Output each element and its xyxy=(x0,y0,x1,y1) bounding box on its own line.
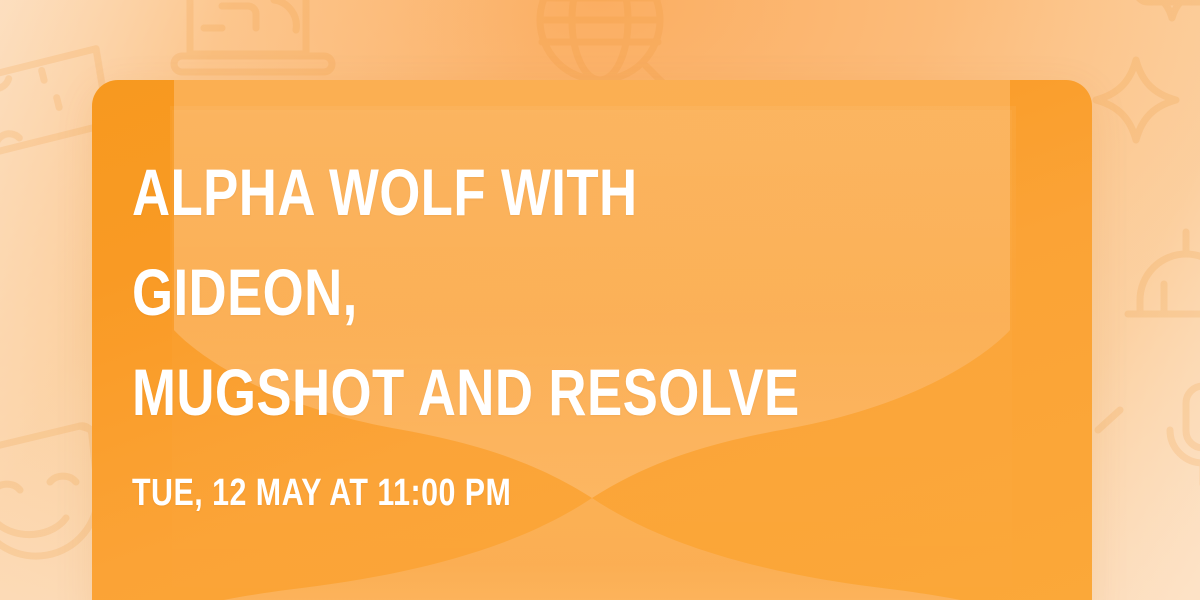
sparkle-icon xyxy=(1096,60,1176,140)
card-content: Alpha Wolf with Gideon, Mugshot and Reso… xyxy=(132,142,1052,516)
camera-icon xyxy=(1136,0,1200,2)
page-title: Alpha Wolf with Gideon, Mugshot and Reso… xyxy=(132,142,868,442)
event-card[interactable]: Alpha Wolf with Gideon, Mugshot and Reso… xyxy=(92,80,1092,600)
lantern-icon xyxy=(1128,232,1200,314)
event-datetime: Tue, 12 May at 11:00 PM xyxy=(132,470,868,516)
laptop-icon xyxy=(174,0,332,72)
event-banner: Alpha Wolf with Gideon, Mugshot and Reso… xyxy=(0,0,1200,600)
microphone-icon xyxy=(1170,386,1200,484)
